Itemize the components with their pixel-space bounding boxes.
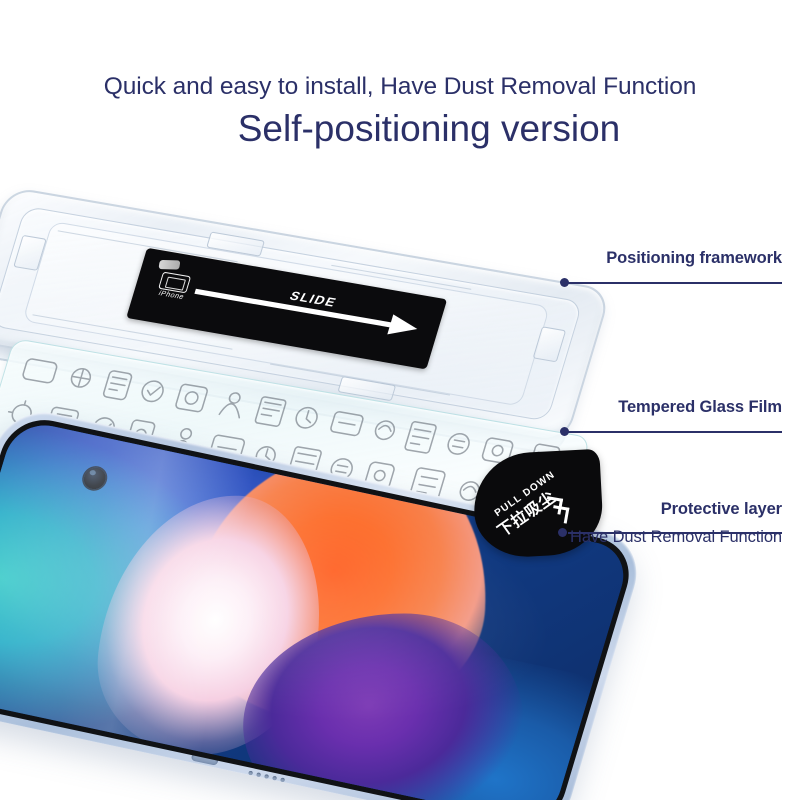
callout-subtitle-protective-layer: Have Dust Removal Function xyxy=(570,527,782,548)
leader-dot-protective-layer xyxy=(558,528,567,537)
callout-title-protective-layer: Protective layer xyxy=(570,500,782,520)
callout-tempered-glass-film: Tempered Glass Film xyxy=(618,398,782,418)
leader-dot-tempered-glass-film xyxy=(560,427,569,436)
product-infographic: Quick and easy to install, Have Dust Rem… xyxy=(0,0,800,800)
leader-dot-positioning-framework xyxy=(560,278,569,287)
callout-positioning-framework: Positioning framework xyxy=(606,249,782,269)
positioning-framework-illustration: iPhone SLIDE xyxy=(8,186,608,356)
subheadline: Quick and easy to install, Have Dust Rem… xyxy=(0,74,800,101)
callout-title-positioning-framework: Positioning framework xyxy=(606,249,782,269)
callout-title-tempered-glass-film: Tempered Glass Film xyxy=(618,398,782,418)
leader-line-positioning-framework xyxy=(568,282,782,284)
mini-cap-icon xyxy=(158,260,180,270)
page-title: Self-positioning version xyxy=(0,108,800,151)
headline-block: Quick and easy to install, Have Dust Rem… xyxy=(0,74,800,150)
chevron-down-icon xyxy=(546,498,572,525)
callout-protective-layer: Protective layer Have Dust Removal Funct… xyxy=(570,500,782,547)
leader-line-tempered-glass-film xyxy=(568,431,782,433)
